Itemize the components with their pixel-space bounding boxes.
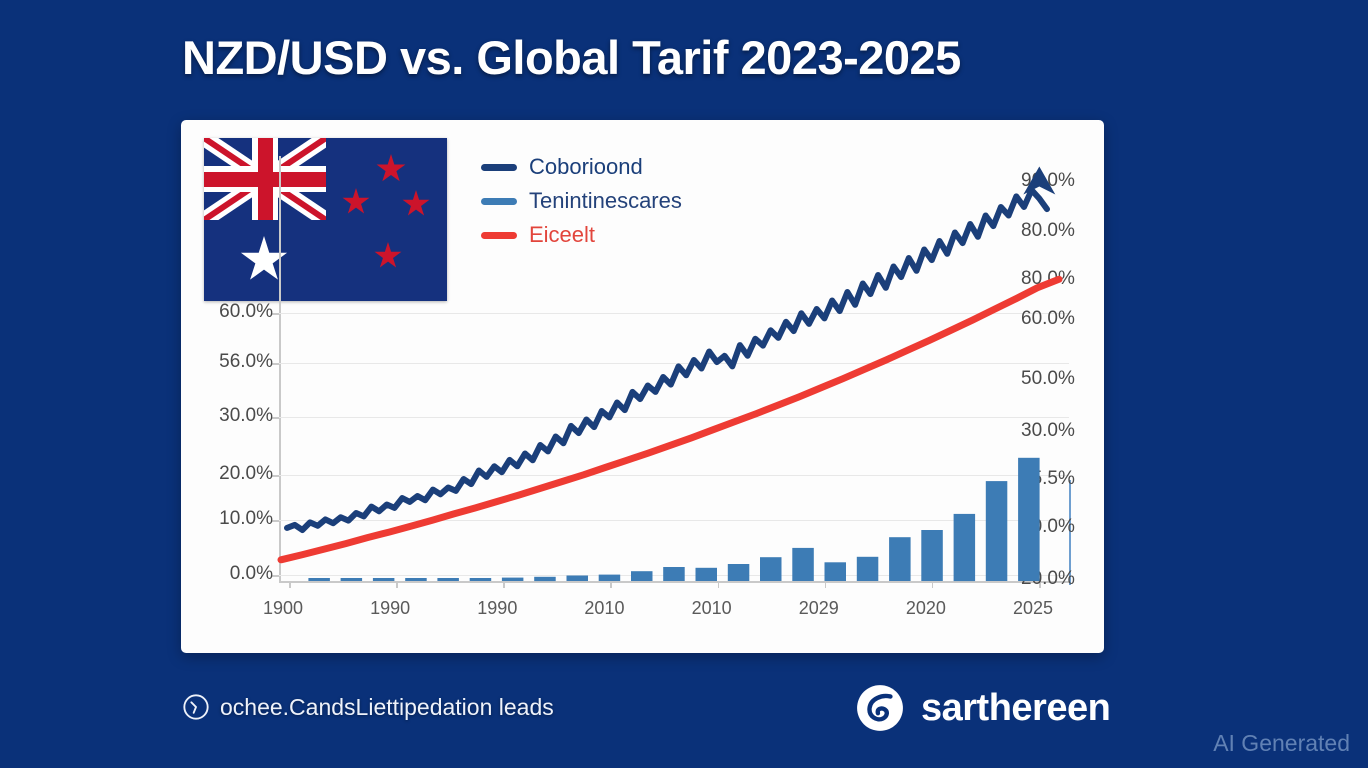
swirl-logo-icon	[855, 683, 905, 733]
bar	[889, 537, 911, 581]
brand-name: sarthereen	[921, 687, 1110, 730]
chart-panel: Coborioond Tenintinescares Eiceelt 60.0%…	[181, 120, 1104, 653]
brand-logo[interactable]: sarthereen	[855, 683, 1110, 733]
chart-plot-area	[181, 120, 1104, 653]
bar	[631, 571, 653, 581]
bar	[857, 557, 879, 581]
line-series-coborioond	[287, 190, 1047, 530]
footer-credit: ochee.CandsLiettipedation leads	[182, 693, 554, 721]
bar	[308, 578, 330, 581]
slide-canvas: NZD/USD vs. Global Tarif 2023-2025 Cobor…	[0, 0, 1368, 768]
bar	[567, 576, 589, 582]
bar	[825, 562, 847, 581]
bar	[696, 568, 718, 581]
bar	[599, 575, 621, 581]
bar	[728, 564, 750, 581]
bar	[954, 514, 976, 581]
page-title: NZD/USD vs. Global Tarif 2023-2025	[182, 30, 1182, 85]
bar-series-tenintinescares	[308, 458, 1039, 581]
footer-text: ochee.CandsLiettipedation leads	[220, 694, 554, 721]
line-series-eiceelt	[281, 279, 1059, 560]
bar	[437, 578, 459, 581]
bar	[534, 577, 556, 581]
bar	[792, 548, 814, 581]
bar	[405, 578, 427, 581]
bar	[470, 578, 492, 581]
clock-icon	[182, 693, 210, 721]
bar	[1018, 458, 1040, 581]
bar	[663, 567, 685, 581]
bar	[502, 578, 524, 581]
bar	[986, 481, 1008, 581]
bar	[373, 578, 395, 581]
bar	[921, 530, 943, 581]
bar	[760, 557, 782, 581]
ai-generated-watermark: AI Generated	[1213, 730, 1350, 757]
line-series-arrow-head-icon	[1023, 167, 1055, 195]
bar	[341, 578, 363, 581]
